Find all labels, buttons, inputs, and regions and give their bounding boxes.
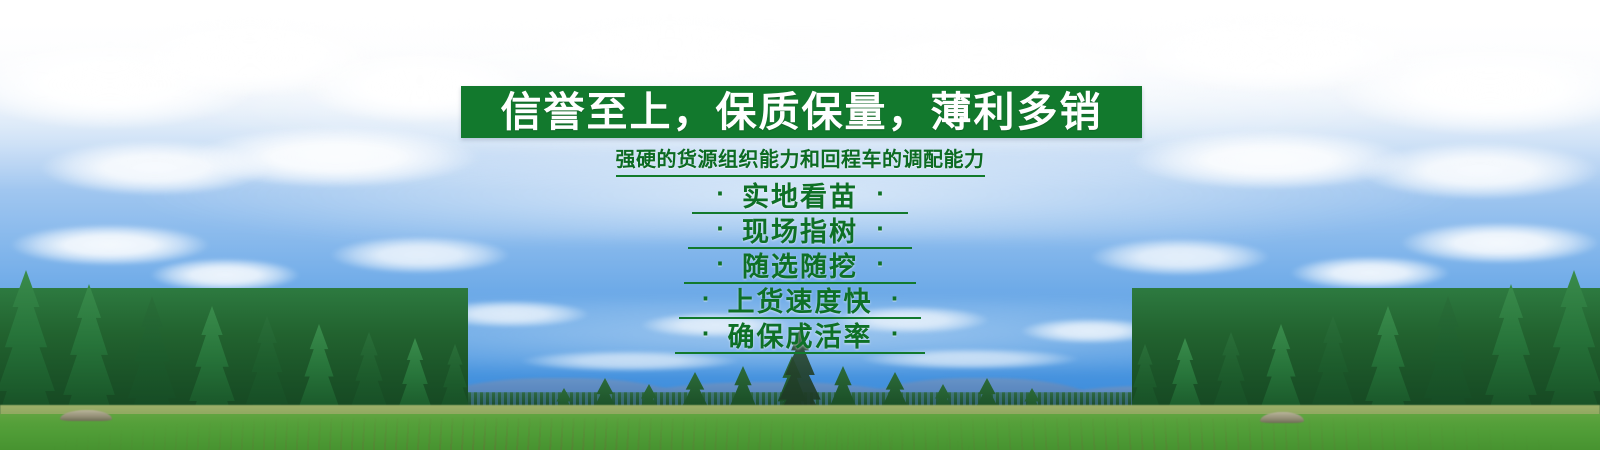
- feature-label: 上货速度快: [728, 280, 873, 319]
- feature-label: 实地看苗: [742, 175, 858, 214]
- bullet-dot-icon: ·: [716, 219, 724, 240]
- headline-banner: 信誉至上，保质保量，薄利多销: [461, 86, 1142, 138]
- feature-item: · 确保成活率 ·: [702, 318, 899, 353]
- text-content: 信誉至上，保质保量，薄利多销 强硬的货源组织能力和回程车的调配能力 · 实地看苗…: [0, 0, 1600, 450]
- page-title: 信誉至上，保质保量，薄利多销: [501, 92, 1103, 133]
- feature-item: · 随选随挖 ·: [716, 248, 884, 283]
- bullet-dot-icon: ·: [702, 289, 710, 310]
- feature-item: · 上货速度快 ·: [702, 283, 899, 318]
- subtitle-wrapper: 强硬的货源组织能力和回程车的调配能力: [0, 143, 1600, 177]
- subtitle: 强硬的货源组织能力和回程车的调配能力: [616, 143, 985, 177]
- bullet-dot-icon: ·: [891, 324, 899, 345]
- bullet-dot-icon: ·: [716, 254, 724, 275]
- feature-item: · 实地看苗 ·: [716, 178, 884, 213]
- bullet-dot-icon: ·: [876, 219, 884, 240]
- feature-label: 确保成活率: [728, 315, 873, 354]
- bullet-dot-icon: ·: [876, 184, 884, 205]
- bullet-dot-icon: ·: [702, 324, 710, 345]
- feature-divider: [675, 352, 925, 354]
- bullet-dot-icon: ·: [891, 289, 899, 310]
- feature-label: 随选随挖: [742, 245, 858, 284]
- bullet-dot-icon: ·: [876, 254, 884, 275]
- feature-list: · 实地看苗 · · 现场指树 · · 随选随挖 ·: [0, 178, 1600, 353]
- feature-item: · 现场指树 ·: [716, 213, 884, 248]
- feature-label: 现场指树: [742, 210, 858, 249]
- banner-hero: 信誉至上，保质保量，薄利多销 强硬的货源组织能力和回程车的调配能力 · 实地看苗…: [0, 0, 1600, 450]
- bullet-dot-icon: ·: [716, 184, 724, 205]
